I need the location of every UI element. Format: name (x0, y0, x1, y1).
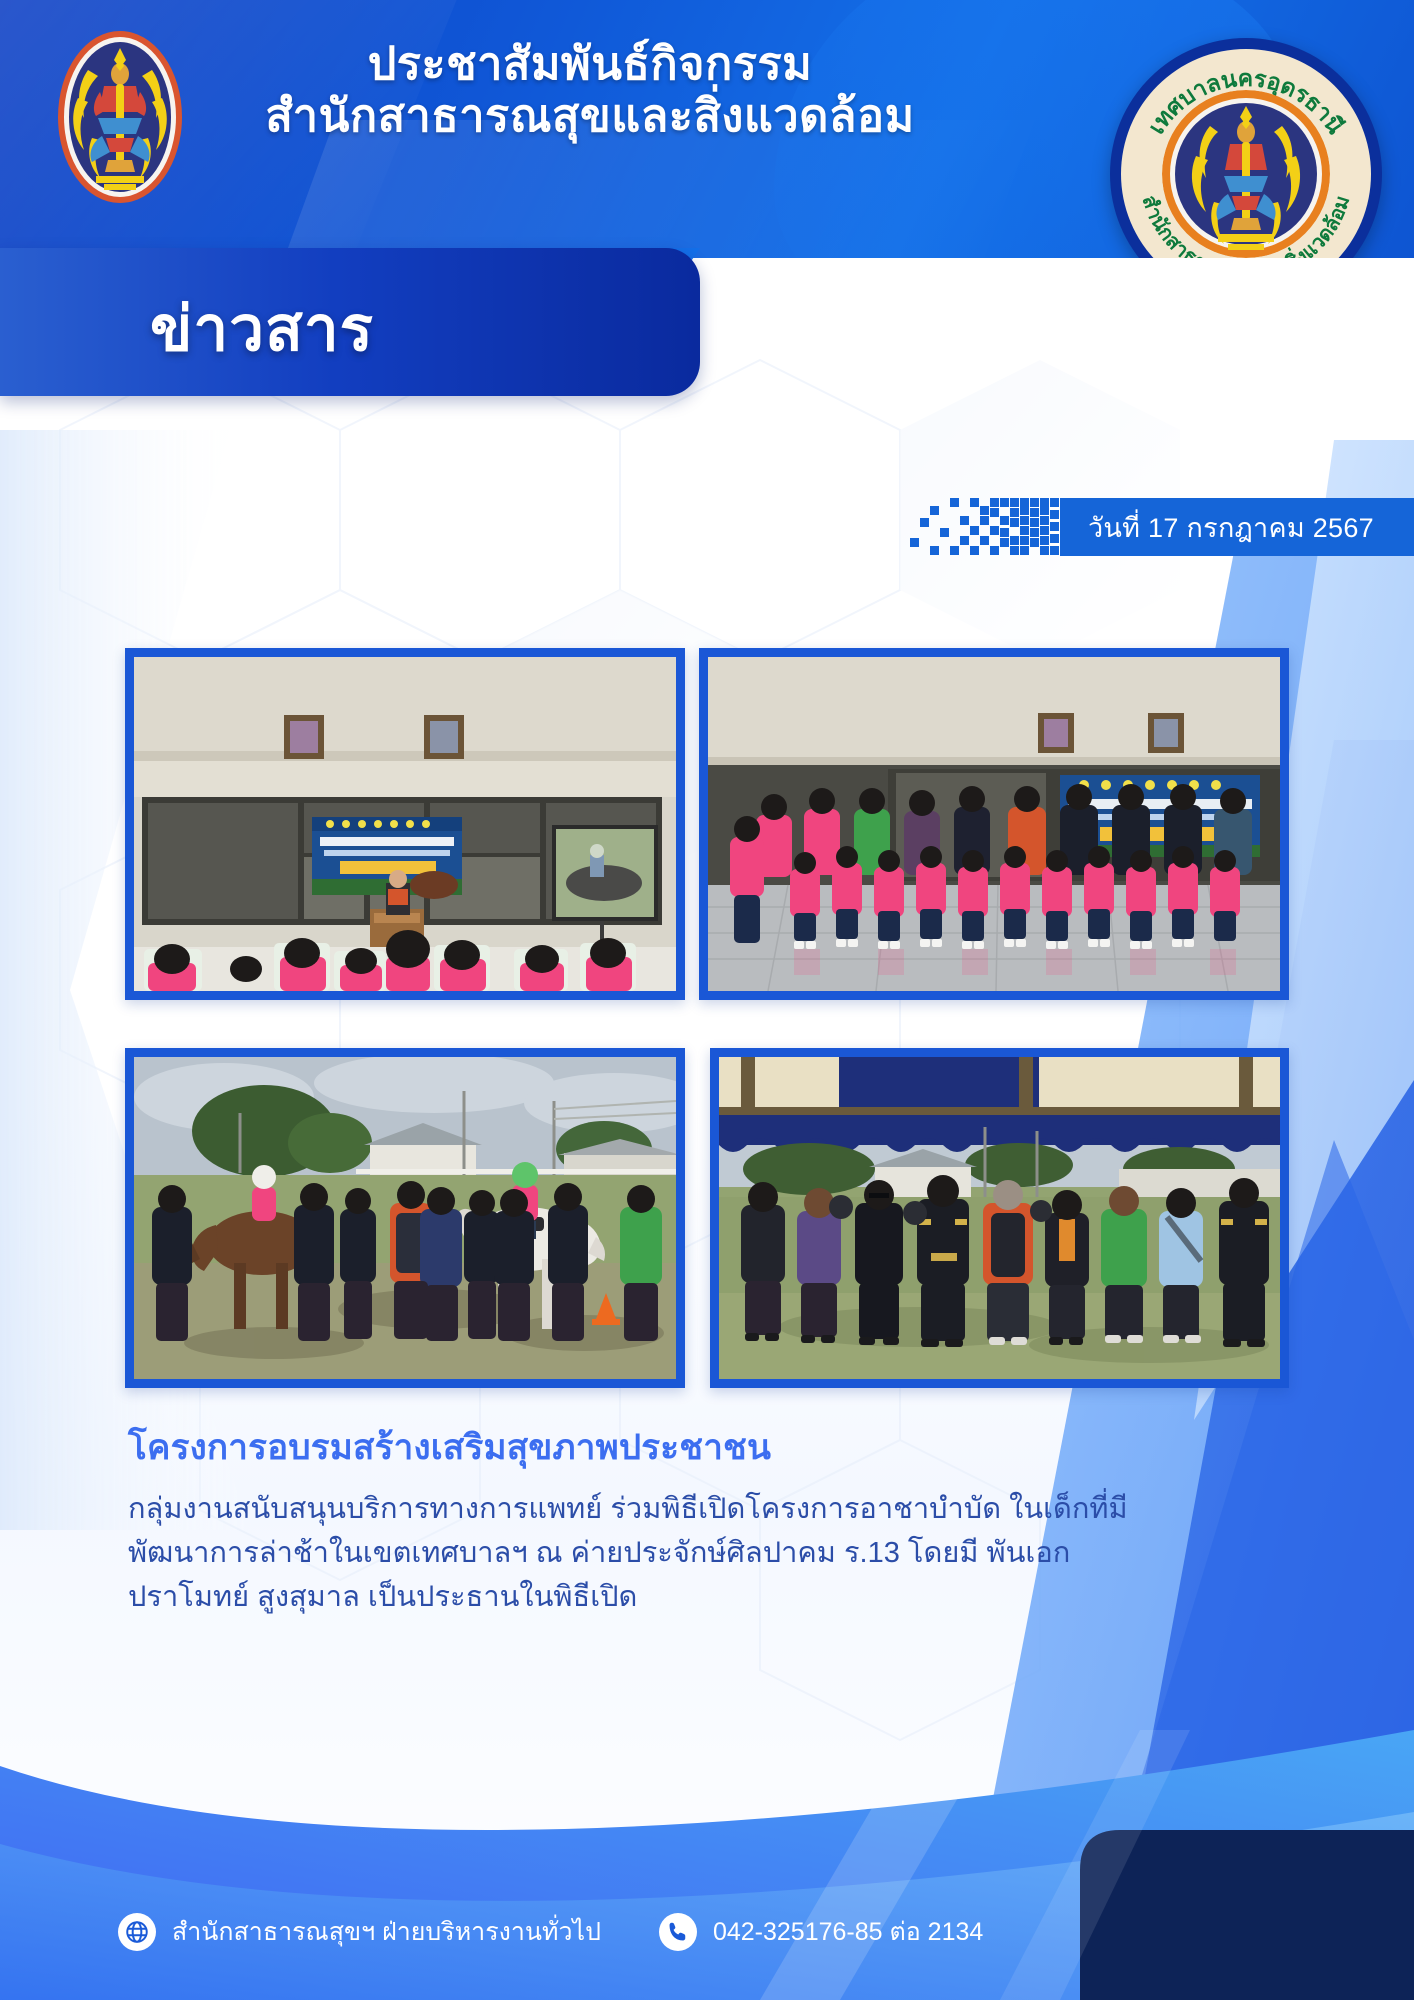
footer-contact-row: สำนักสาธารณสุขฯ ฝ่ายบริหารงานทั่วไป 042-… (118, 1912, 983, 1952)
header-title-line1: ประชาสัมพันธ์กิจกรรม (250, 38, 930, 90)
footer-phone[interactable]: 042-325176-85 ต่อ 2134 (659, 1912, 983, 1952)
photo-horse-therapy-field[interactable] (125, 1048, 685, 1388)
photo-opening-ceremony-hall[interactable] (125, 648, 685, 1000)
date-banner: วันที่ 17 กรกฎาคม 2567 (910, 498, 1414, 556)
footer-office: สำนักสาธารณสุขฯ ฝ่ายบริหารงานทั่วไป (118, 1912, 601, 1952)
footer-office-label: สำนักสาธารณสุขฯ ฝ่ายบริหารงานทั่วไป (172, 1912, 601, 1952)
header-title: ประชาสัมพันธ์กิจกรรม สำนักสาธารณสุขและสิ… (250, 38, 930, 142)
article-body-line-2: พัฒนาการล่าช้าในเขตเทศบาลฯ ณ ค่ายประจักษ… (128, 1531, 1268, 1575)
date-text: วันที่ 17 กรกฎาคม 2567 (1060, 498, 1414, 556)
header-title-line2: สำนักสาธารณสุขและสิ่งแวดล้อม (250, 90, 930, 142)
globe-icon (118, 1913, 156, 1951)
poster-canvas: ประชาสัมพันธ์กิจกรรม สำนักสาธารณสุขและสิ… (0, 0, 1414, 2000)
thai-municipal-seal-emblem (1162, 90, 1330, 258)
phone-icon (659, 1913, 697, 1951)
article-headline: โครงการอบรมสร้างเสริมสุขภาพประชาชน (128, 1420, 1128, 1475)
photo-grid (125, 648, 1290, 1388)
article-body-line-1: กลุ่มงานสนับสนุนบริการทางการแพทย์ ร่วมพิ… (128, 1487, 1268, 1531)
municipal-circular-seal: เทศบาลนครอุดรธานี สำนักสาธารณสุขและสิ่งแ… (1110, 38, 1382, 258)
pixel-dissolve-pattern (910, 498, 1060, 556)
news-ribbon-label: ข่าวสาร (150, 280, 374, 378)
photo-officials-group-tent[interactable] (710, 1048, 1289, 1388)
thai-government-garuda-emblem (40, 26, 200, 208)
poster-footer: สำนักสาธารณสุขฯ ฝ่ายบริหารงานทั่วไป 042-… (0, 1580, 1414, 2000)
footer-phone-label: 042-325176-85 ต่อ 2134 (713, 1912, 983, 1952)
poster-header: ประชาสัมพันธ์กิจกรรม สำนักสาธารณสุขและสิ… (0, 0, 1414, 258)
photo-group-children-pink[interactable] (699, 648, 1289, 1000)
